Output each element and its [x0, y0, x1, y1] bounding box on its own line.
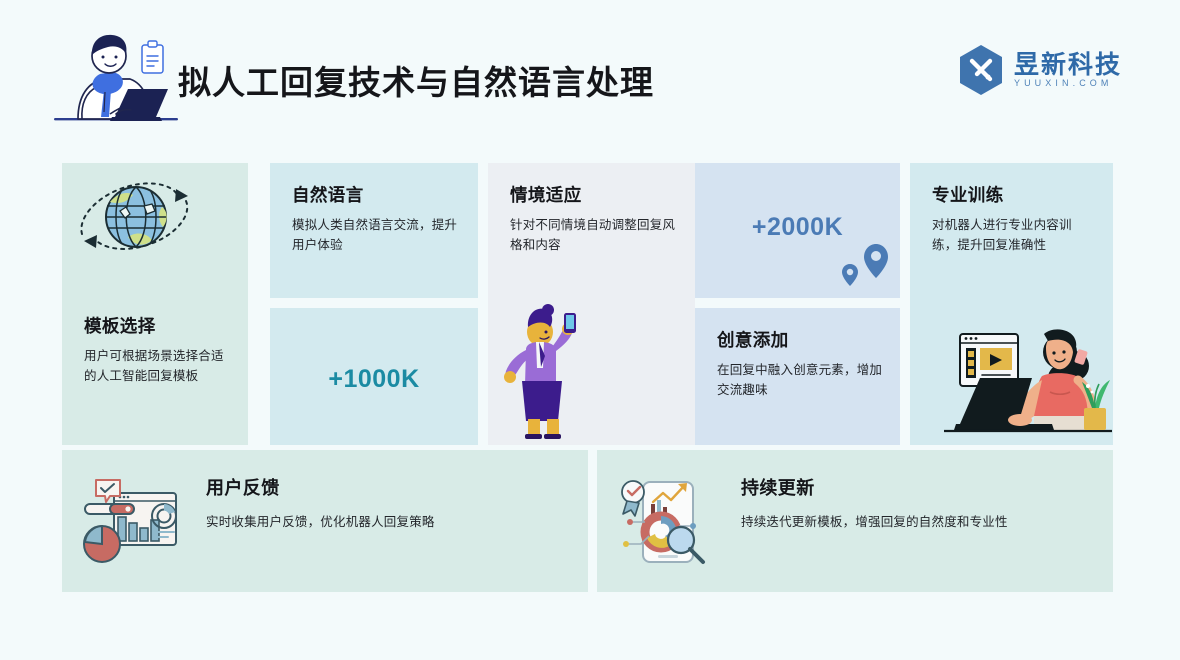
slide-root: 拟人工回复技术与自然语言处理 昱新科技 YUUXIN.COM: [0, 0, 1180, 660]
brand-domain: YUUXIN.COM: [1014, 79, 1122, 88]
card-stat-1000k[interactable]: +1000K: [270, 308, 478, 445]
header: 拟人工回复技术与自然语言处理 昱新科技 YUUXIN.COM: [0, 0, 1180, 150]
card-title: 情境适应: [510, 185, 679, 206]
feature-card-grid: 模板选择 用户可根据场景选择合适的人工智能回复模板 自然语言 模拟人类自然语言交…: [62, 163, 1113, 445]
bottom-card-row: 用户反馈 实时收集用户反馈，优化机器人回复策略: [62, 450, 1113, 592]
card-natural-language[interactable]: 自然语言 模拟人类自然语言交流，提升用户体验: [270, 163, 478, 298]
card-title: 持续更新: [741, 478, 1097, 500]
card-desc: 对机器人进行专业内容训练，提升回复准确性: [932, 215, 1097, 256]
hexagon-x-logo-icon: [957, 44, 1005, 96]
card-title: 模板选择: [84, 316, 232, 337]
card-context-adaptation[interactable]: 情境适应 针对不同情境自动调整回复风格和内容: [488, 163, 695, 445]
card-desc: 持续迭代更新模板，增强回复的自然度和专业性: [741, 512, 1097, 532]
person-at-laptop-illustration: [52, 18, 182, 128]
dashboard-chart-icon: [82, 476, 182, 568]
card-desc: 在回复中融入创意元素，增加交流趣味: [717, 360, 884, 401]
card-continuous-update[interactable]: 持续更新 持续迭代更新模板，增强回复的自然度和专业性: [597, 450, 1113, 592]
card-title: 创意添加: [717, 330, 884, 351]
card-desc: 用户可根据场景选择合适的人工智能回复模板: [84, 346, 232, 387]
card-stat-2000k[interactable]: +2000K: [695, 163, 900, 298]
globe-orbit-icon: [76, 171, 196, 263]
brand-name: 昱新科技: [1014, 52, 1122, 78]
card-desc: 实时收集用户反馈，优化机器人回复策略: [206, 512, 572, 532]
woman-laptop-video-illustration: [942, 328, 1113, 440]
brand-text: 昱新科技 YUUXIN.COM: [1014, 52, 1122, 88]
brand-logo: 昱新科技 YUUXIN.COM: [957, 44, 1122, 96]
card-desc: 针对不同情境自动调整回复风格和内容: [510, 215, 679, 256]
card-title: 自然语言: [292, 185, 462, 206]
stat-value: +1000K: [270, 365, 478, 394]
card-title: 用户反馈: [206, 478, 572, 500]
page-title: 拟人工回复技术与自然语言处理: [178, 66, 654, 99]
map-pin-icon: [832, 236, 892, 292]
card-title: 专业训练: [932, 185, 1097, 206]
card-template-selection[interactable]: 模板选择 用户可根据场景选择合适的人工智能回复模板: [62, 163, 248, 445]
card-professional-training[interactable]: 专业训练 对机器人进行专业内容训练，提升回复准确性: [910, 163, 1113, 445]
card-creative-addition[interactable]: 创意添加 在回复中融入创意元素，增加交流趣味: [695, 308, 900, 445]
mobile-analytics-badge-icon: [617, 476, 717, 568]
woman-with-phone-illustration: [492, 301, 596, 441]
card-user-feedback[interactable]: 用户反馈 实时收集用户反馈，优化机器人回复策略: [62, 450, 588, 592]
card-desc: 模拟人类自然语言交流，提升用户体验: [292, 215, 462, 256]
